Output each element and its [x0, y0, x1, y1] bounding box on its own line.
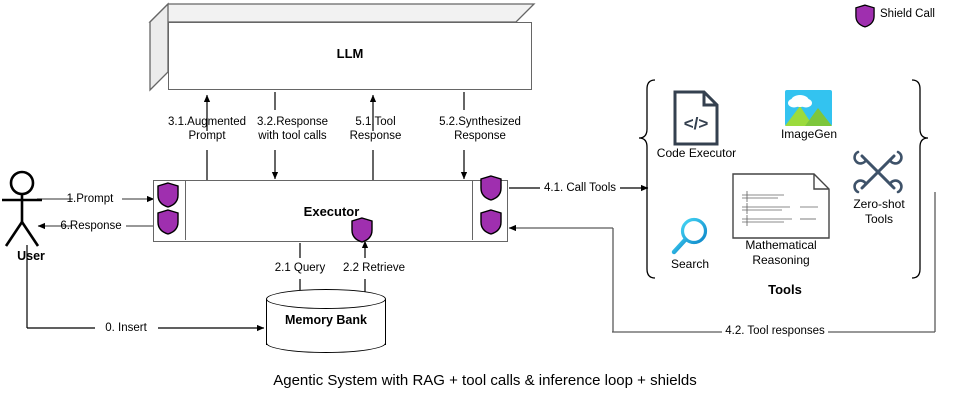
- shield-icon-memory: [351, 217, 373, 243]
- executor-label: Executor: [154, 204, 509, 219]
- diagram-caption: Agentic System with RAG + tool calls & i…: [0, 374, 970, 388]
- magnifier-icon: [669, 216, 711, 258]
- tool-label-zero-shot-tools: Zero-shot Tools: [838, 197, 920, 227]
- shield-icon-output-top: [480, 175, 502, 201]
- edge-label-synthesized-response: 5.2.Synthesized Response: [415, 116, 545, 143]
- edge-label-retrieve: 2.2 Retrieve: [331, 262, 417, 276]
- shield-icon-input-bottom: [157, 209, 179, 235]
- legend-label: Shield Call: [880, 8, 970, 22]
- edge-label-tool-response: 5.1.Tool Response: [333, 116, 418, 143]
- shield-icon-legend: [855, 4, 875, 28]
- llm-label: LLM: [168, 46, 532, 61]
- shield-icon-output-bottom: [480, 209, 502, 235]
- tools-right-brace: [912, 80, 928, 278]
- tool-label-mathematical-reasoning: Mathematical Reasoning: [722, 238, 840, 268]
- edge-label-call-tools: 4.1. Call Tools: [538, 182, 622, 196]
- memory-bank-node: Memory Bank: [266, 289, 386, 353]
- tools-group-label: Tools: [740, 283, 830, 297]
- user-label: User: [2, 250, 60, 264]
- tool-label-code-executor: Code Executor: [644, 147, 749, 161]
- edge-label-response: 6.Response: [54, 220, 128, 234]
- edge-insert: [27, 245, 264, 328]
- code-file-icon: </>: [672, 89, 720, 147]
- executor-node: Executor: [153, 180, 508, 242]
- memory-bank-top: [266, 289, 386, 309]
- edge-label-insert: 0. Insert: [90, 322, 162, 336]
- edge-label-query: 2.1 Query: [262, 262, 338, 276]
- memory-bank-label: Memory Bank: [266, 313, 386, 327]
- tools-left-brace: [639, 80, 655, 278]
- math-document-icon: [732, 173, 830, 239]
- llm-node: LLM: [148, 3, 534, 93]
- image-icon: [785, 90, 832, 126]
- user-stick-figure: [2, 172, 42, 246]
- edge-label-prompt: 1.Prompt: [55, 193, 125, 207]
- edge-label-tool-responses: 4.2. Tool responses: [720, 325, 830, 339]
- diagram-canvas: LLM Executor Memory Bank User 1.Prompt 6…: [0, 0, 970, 411]
- tool-label-imagegen: ImageGen: [768, 128, 850, 142]
- tool-label-search: Search: [657, 258, 723, 272]
- shield-icon-input-top: [157, 182, 179, 208]
- svg-text:</>: </>: [684, 114, 709, 133]
- crossed-wrenches-icon: [852, 146, 904, 198]
